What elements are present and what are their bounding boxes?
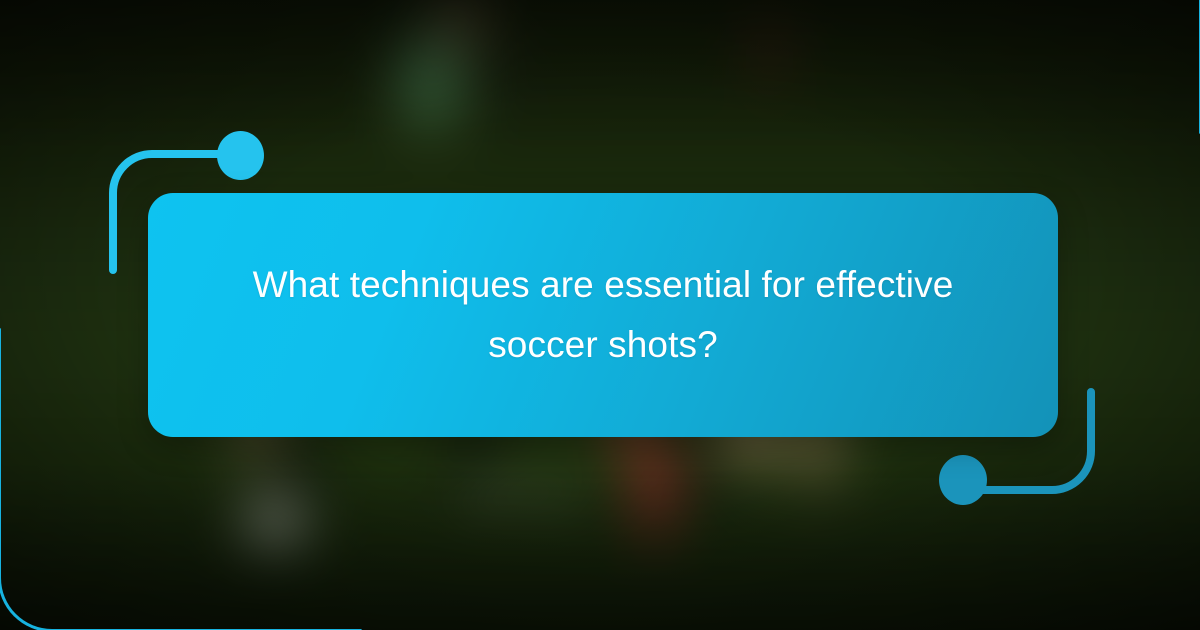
accent-dot-bottom-right xyxy=(939,455,987,505)
question-text: What techniques are essential for effect… xyxy=(238,255,968,375)
question-card: What techniques are essential for effect… xyxy=(148,193,1058,437)
accent-dot-top-left xyxy=(217,131,264,180)
og-card-canvas: What techniques are essential for effect… xyxy=(0,0,1200,630)
